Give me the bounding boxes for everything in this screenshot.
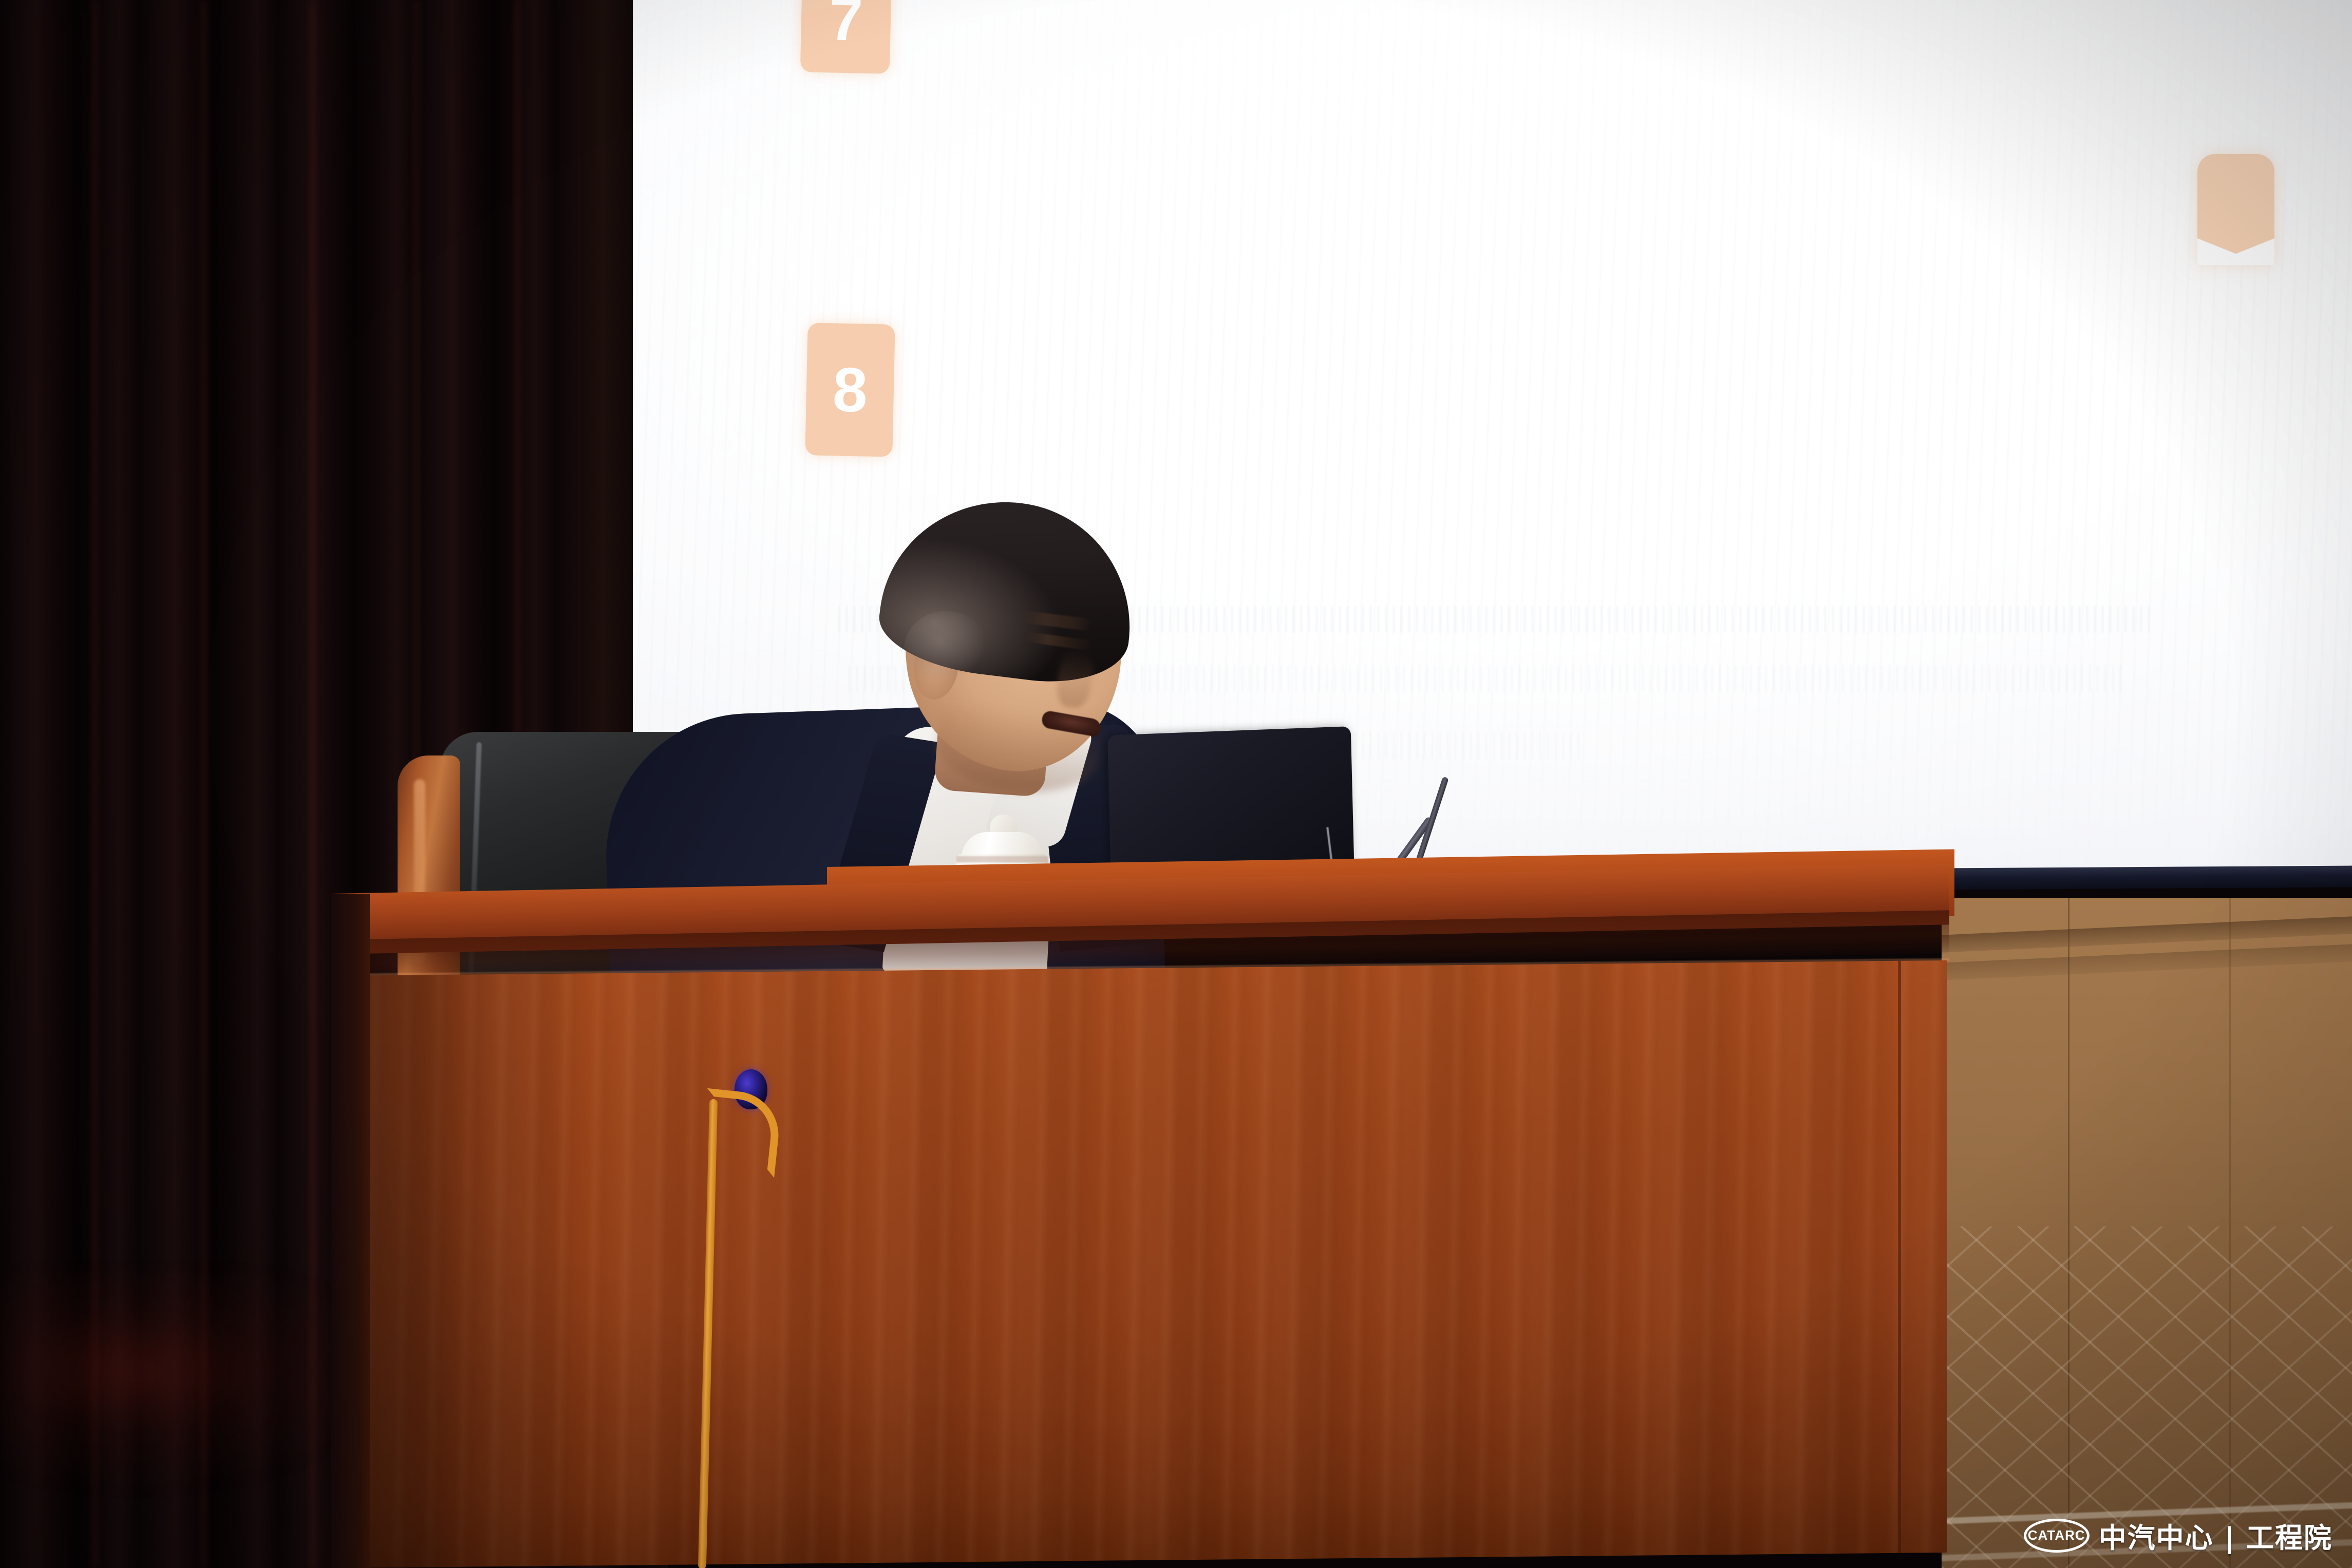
podium-front-panel: [336, 960, 1947, 1568]
watermark: CATARC 中汽中心 | 工程院: [2024, 1515, 2332, 1556]
slide-badge-7: 7: [800, 0, 892, 74]
teacup-rim-band: [956, 856, 1048, 862]
slide-ribbon-marker: [2197, 154, 2274, 265]
podium-right-edge: [1898, 961, 1901, 1553]
podium-left-dark-edge: [331, 894, 370, 1568]
catarc-logo-icon: CATARC: [2024, 1519, 2090, 1553]
right-wall-panels: [1942, 898, 2352, 1568]
watermark-organization: 中汽中心 | 工程院: [2099, 1515, 2332, 1556]
podium-left-shading: [336, 974, 573, 1568]
podium-wood-grain: [336, 960, 1947, 1568]
photo-scene: 7 8: [0, 0, 2352, 1568]
slide-badge-8: 8: [805, 323, 895, 457]
